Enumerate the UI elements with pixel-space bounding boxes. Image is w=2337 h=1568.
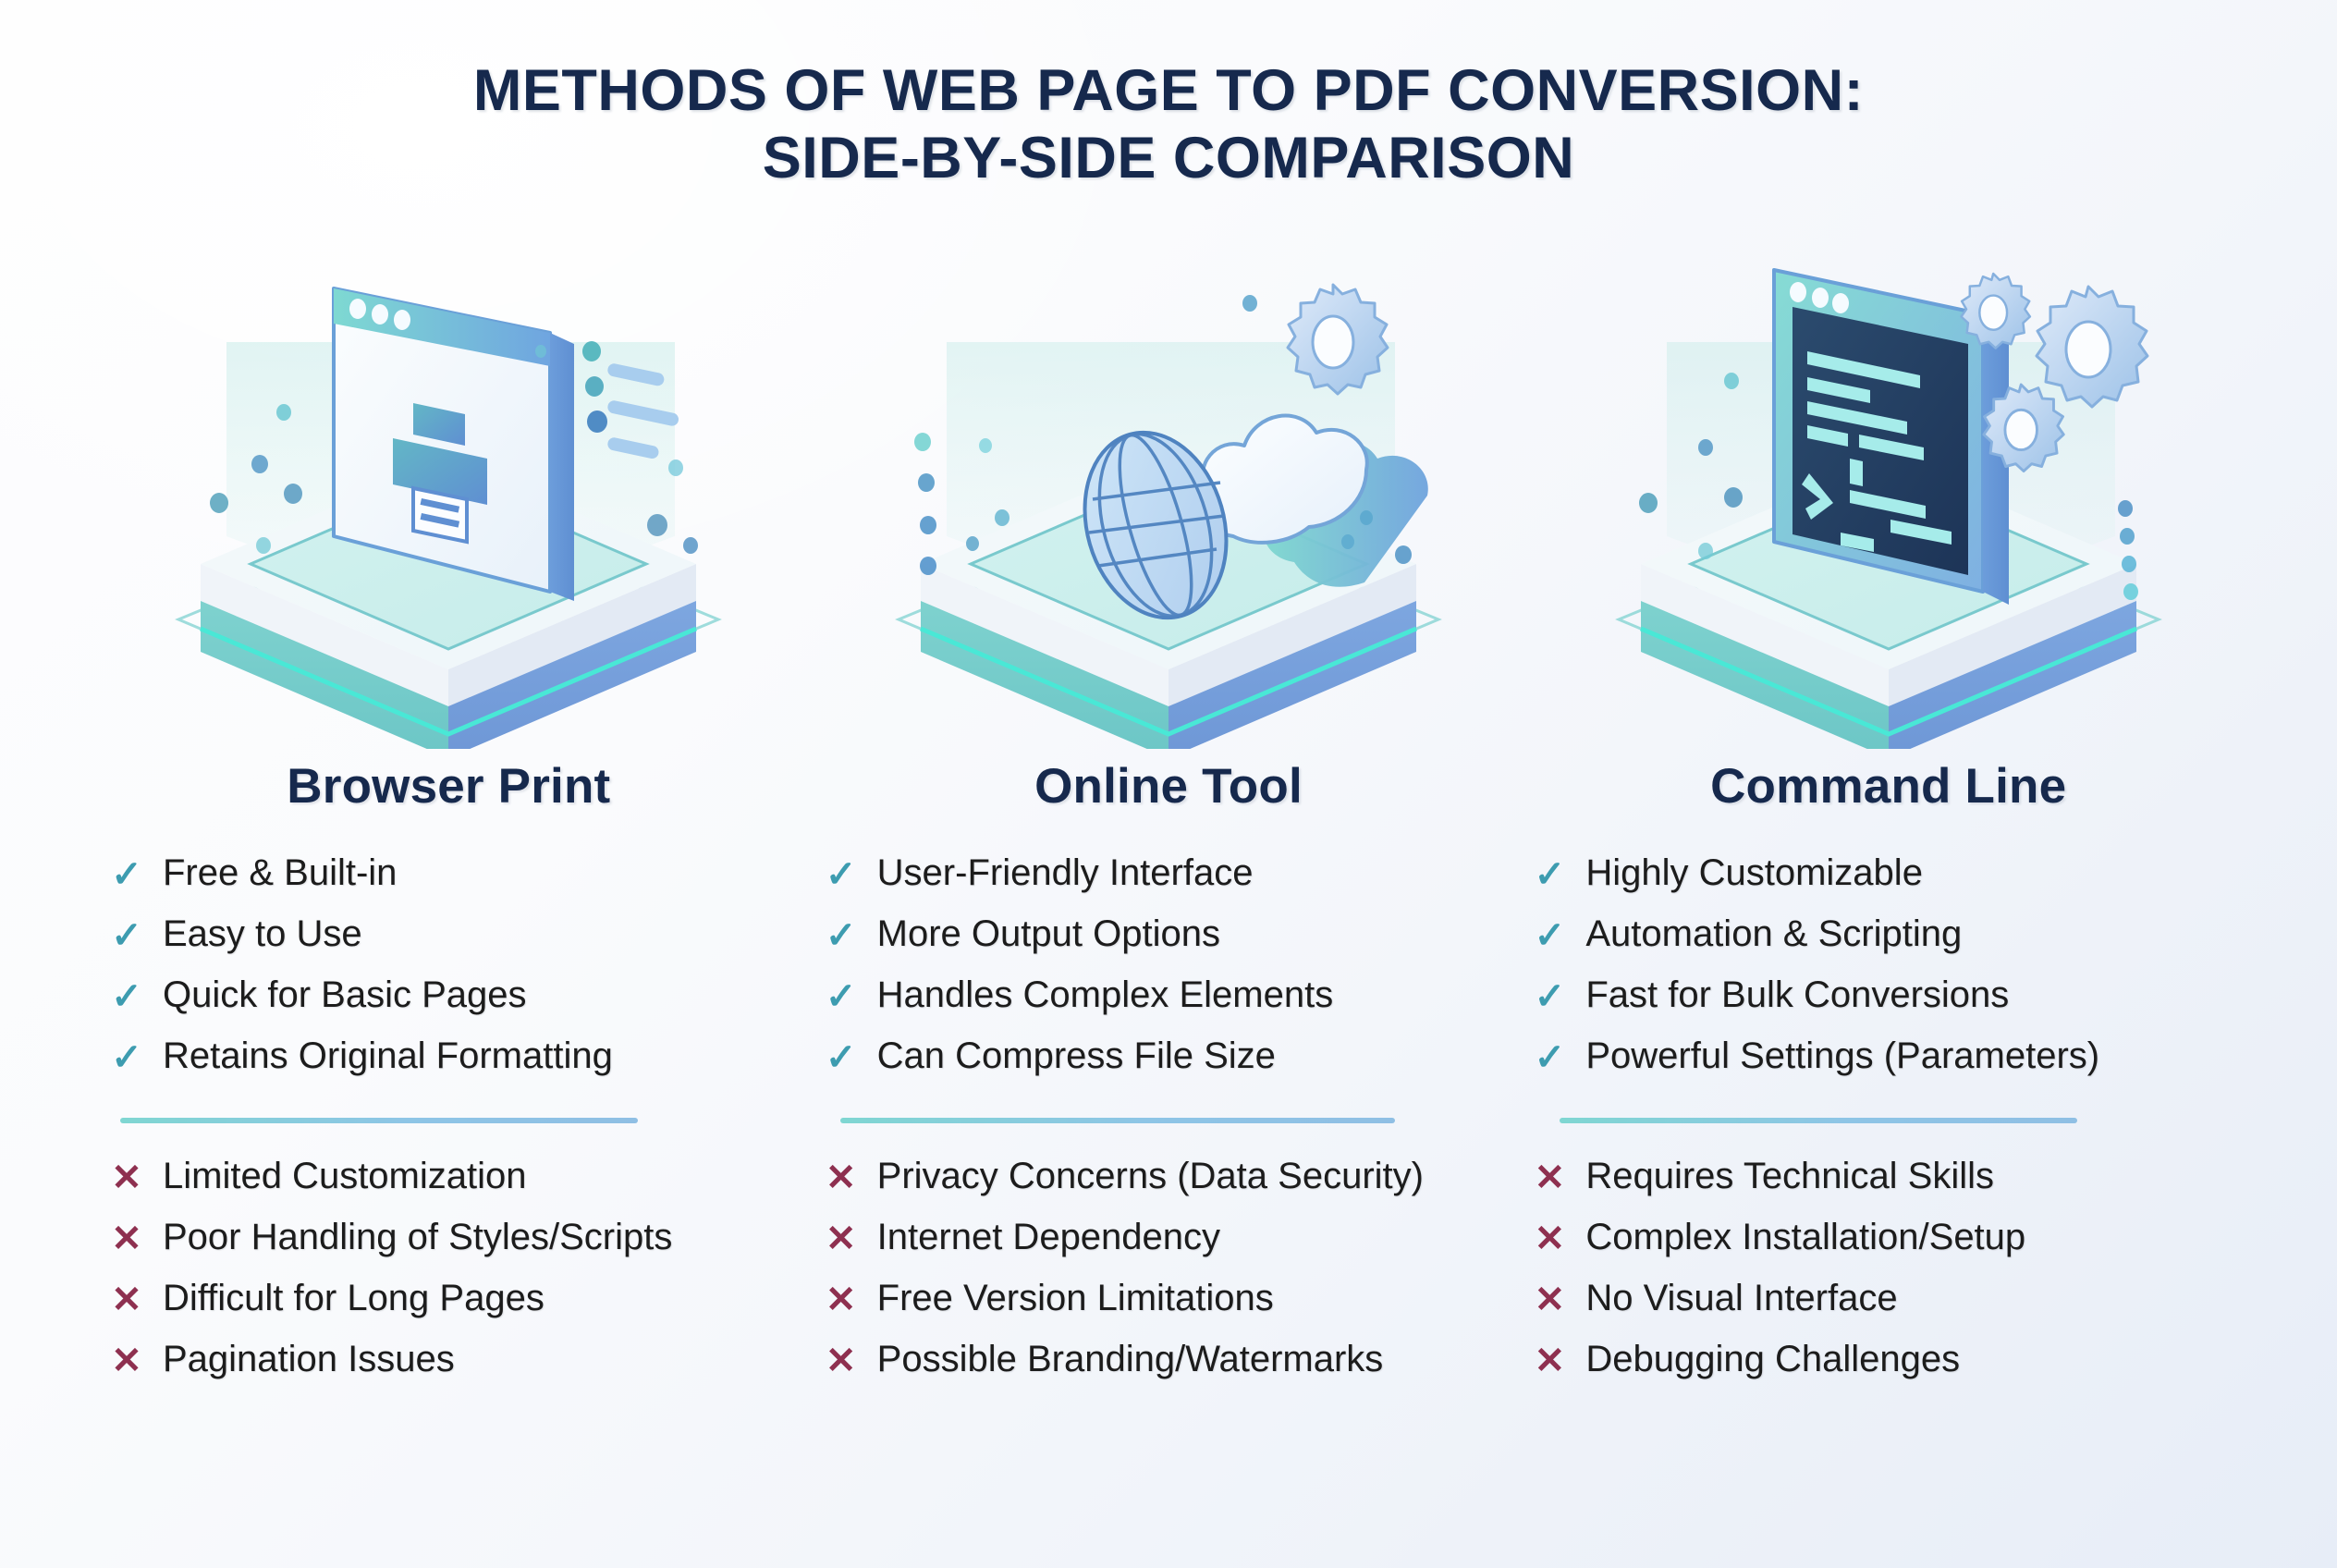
list-item-label: Easy to Use: [163, 914, 362, 953]
check-icon: ✓: [111, 856, 142, 893]
list-item-label: Free & Built-in: [163, 853, 397, 892]
check-icon: ✓: [826, 1039, 857, 1076]
list-item: ✓User-Friendly Interface: [826, 853, 1529, 896]
list-item-label: Poor Handling of Styles/Scripts: [163, 1218, 672, 1256]
cross-icon: ✕: [826, 1220, 857, 1257]
list-item-label: Limited Customization: [163, 1157, 527, 1195]
cons-list-online-tool: ✕Privacy Concerns (Data Security) ✕Inter…: [809, 1157, 1529, 1401]
list-item-label: Quick for Basic Pages: [163, 975, 527, 1014]
list-item-label: Highly Customizable: [1585, 853, 1923, 892]
page-title: METHODS OF WEB PAGE TO PDF CONVERSION: S…: [0, 0, 2337, 192]
cross-icon: ✕: [826, 1281, 857, 1318]
list-item-label: Possible Branding/Watermarks: [877, 1340, 1384, 1378]
list-item: ✓Automation & Scripting: [1534, 914, 2248, 957]
cloud-globe-gear-isometric-icon: [882, 231, 1455, 749]
list-item-label: Can Compress File Size: [877, 1036, 1276, 1075]
list-item: ✓Powerful Settings (Parameters): [1534, 1036, 2248, 1079]
check-icon: ✓: [826, 978, 857, 1015]
list-item-label: No Visual Interface: [1585, 1279, 1897, 1317]
list-item: ✕Difficult for Long Pages: [111, 1279, 809, 1321]
list-item: ✓Highly Customizable: [1534, 853, 2248, 896]
list-item-label: Free Version Limitations: [877, 1279, 1274, 1317]
check-icon: ✓: [111, 1039, 142, 1076]
terminal-gears-isometric-icon: [1602, 231, 2175, 749]
page-title-line-1: METHODS OF WEB PAGE TO PDF CONVERSION:: [0, 57, 2337, 125]
list-item-label: Internet Dependency: [877, 1218, 1220, 1256]
list-item: ✕Poor Handling of Styles/Scripts: [111, 1218, 809, 1260]
comparison-column-command-line: Command Line ✓Highly Customizable ✓Autom…: [1528, 231, 2248, 1401]
list-item-label: Handles Complex Elements: [877, 975, 1334, 1014]
list-item: ✓Can Compress File Size: [826, 1036, 1529, 1079]
cross-icon: ✕: [1534, 1159, 1565, 1196]
pros-list-browser-print: ✓Free & Built-in ✓Easy to Use ✓Quick for…: [89, 853, 809, 1097]
comparison-columns: Browser Print ✓Free & Built-in ✓Easy to …: [0, 231, 2337, 1401]
list-item-label: Requires Technical Skills: [1585, 1157, 1994, 1195]
list-item: ✕Internet Dependency: [826, 1218, 1529, 1260]
pros-cons-divider: [840, 1118, 1395, 1123]
list-item-label: Automation & Scripting: [1585, 914, 1962, 953]
list-item: ✓Fast for Bulk Conversions: [1534, 975, 2248, 1018]
list-item: ✕Requires Technical Skills: [1534, 1157, 2248, 1199]
comparison-column-online-tool: Online Tool ✓User-Friendly Interface ✓Mo…: [809, 231, 1529, 1401]
list-item: ✓More Output Options: [826, 914, 1529, 957]
list-item: ✓Handles Complex Elements: [826, 975, 1529, 1018]
list-item-label: Fast for Bulk Conversions: [1585, 975, 2009, 1014]
cross-icon: ✕: [111, 1281, 142, 1318]
page-title-line-2: SIDE-BY-SIDE COMPARISON: [0, 125, 2337, 192]
column-heading-online-tool: Online Tool: [1034, 758, 1303, 815]
cross-icon: ✕: [826, 1159, 857, 1196]
list-item-label: Difficult for Long Pages: [163, 1279, 544, 1317]
cons-list-command-line: ✕Requires Technical Skills ✕Complex Inst…: [1528, 1157, 2248, 1401]
cross-icon: ✕: [111, 1159, 142, 1196]
pros-list-command-line: ✓Highly Customizable ✓Automation & Scrip…: [1528, 853, 2248, 1097]
cross-icon: ✕: [111, 1220, 142, 1257]
cross-icon: ✕: [1534, 1281, 1565, 1318]
list-item-label: User-Friendly Interface: [877, 853, 1254, 892]
list-item: ✕Complex Installation/Setup: [1534, 1218, 2248, 1260]
pros-cons-divider: [1560, 1118, 2077, 1123]
pros-cons-divider: [120, 1118, 638, 1123]
list-item-label: Retains Original Formatting: [163, 1036, 613, 1075]
column-heading-browser-print: Browser Print: [287, 758, 610, 815]
check-icon: ✓: [1534, 917, 1565, 954]
list-item-label: Debugging Challenges: [1585, 1340, 1960, 1378]
list-item-label: Privacy Concerns (Data Security): [877, 1157, 1424, 1195]
list-item: ✕Free Version Limitations: [826, 1279, 1529, 1321]
list-item: ✕Pagination Issues: [111, 1340, 809, 1382]
list-item: ✕Privacy Concerns (Data Security): [826, 1157, 1529, 1199]
cross-icon: ✕: [826, 1342, 857, 1379]
list-item: ✓Retains Original Formatting: [111, 1036, 809, 1079]
list-item-label: Complex Installation/Setup: [1585, 1218, 2025, 1256]
list-item: ✓Easy to Use: [111, 914, 809, 957]
column-heading-command-line: Command Line: [1710, 758, 2066, 815]
pros-list-online-tool: ✓User-Friendly Interface ✓More Output Op…: [809, 853, 1529, 1097]
check-icon: ✓: [1534, 1039, 1565, 1076]
list-item: ✕Debugging Challenges: [1534, 1340, 2248, 1382]
cross-icon: ✕: [111, 1342, 142, 1379]
list-item: ✕No Visual Interface: [1534, 1279, 2248, 1321]
check-icon: ✓: [111, 978, 142, 1015]
check-icon: ✓: [826, 917, 857, 954]
list-item-label: Powerful Settings (Parameters): [1585, 1036, 2099, 1075]
check-icon: ✓: [111, 917, 142, 954]
list-item: ✕Possible Branding/Watermarks: [826, 1340, 1529, 1382]
cross-icon: ✕: [1534, 1342, 1565, 1379]
list-item: ✕Limited Customization: [111, 1157, 809, 1199]
check-icon: ✓: [826, 856, 857, 893]
list-item: ✓Free & Built-in: [111, 853, 809, 896]
list-item-label: Pagination Issues: [163, 1340, 455, 1378]
check-icon: ✓: [1534, 856, 1565, 893]
cons-list-browser-print: ✕Limited Customization ✕Poor Handling of…: [89, 1157, 809, 1401]
browser-print-isometric-icon: [162, 231, 735, 749]
comparison-column-browser-print: Browser Print ✓Free & Built-in ✓Easy to …: [89, 231, 809, 1401]
list-item: ✓Quick for Basic Pages: [111, 975, 809, 1018]
check-icon: ✓: [1534, 978, 1565, 1015]
list-item-label: More Output Options: [877, 914, 1220, 953]
cross-icon: ✕: [1534, 1220, 1565, 1257]
